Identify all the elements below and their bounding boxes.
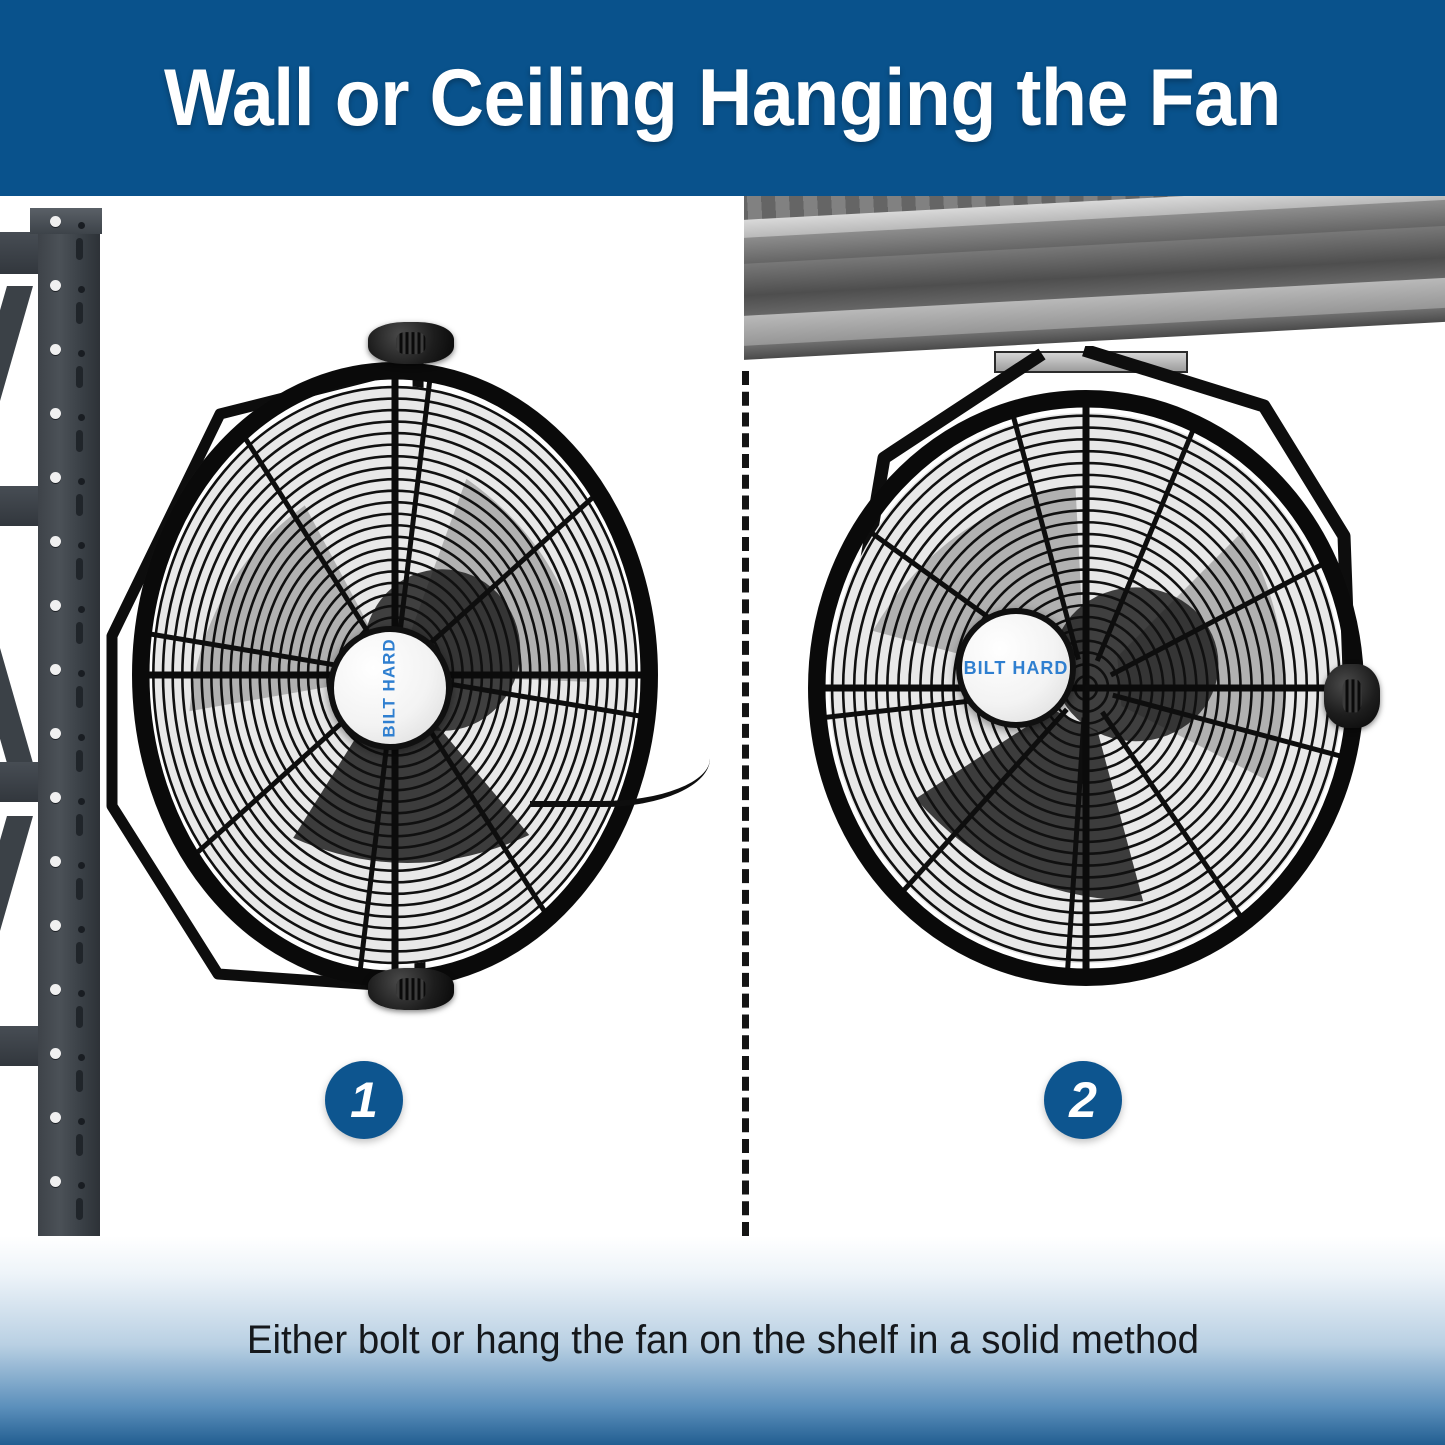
rack-brace xyxy=(0,286,33,502)
image-stage: BILT HARD 1 xyxy=(0,196,1445,1236)
rack-slot xyxy=(76,1134,83,1156)
rack-slot xyxy=(76,302,83,324)
panel-left: BILT HARD 1 xyxy=(0,196,744,1236)
tilt-adjustment-knob[interactable] xyxy=(1324,664,1380,728)
rack-hole xyxy=(50,1048,61,1059)
rack-hole xyxy=(50,856,61,867)
rack-dot xyxy=(78,542,85,549)
rack-slot xyxy=(76,622,83,644)
rack-upright-post xyxy=(38,208,100,1236)
rack-dot xyxy=(78,606,85,613)
rack-hole xyxy=(50,216,61,227)
step-badge-1: 1 xyxy=(325,1061,403,1139)
brand-label: BILT HARD xyxy=(380,638,400,737)
rack-dot xyxy=(78,734,85,741)
power-cord xyxy=(530,726,710,807)
rack-slot xyxy=(76,1198,83,1220)
rack-hole xyxy=(50,1112,61,1123)
shelving-rack xyxy=(0,196,112,1236)
rack-dot xyxy=(78,670,85,677)
rack-slot xyxy=(76,494,83,516)
fan-guard-wires xyxy=(806,388,1366,988)
rack-dot xyxy=(78,1054,85,1061)
page-title: Wall or Ceiling Hanging the Fan xyxy=(164,52,1281,145)
rack-dot xyxy=(78,1118,85,1125)
rack-hole xyxy=(50,344,61,355)
rack-hole xyxy=(50,280,61,291)
panel-divider xyxy=(742,371,749,1236)
rack-hole xyxy=(50,664,61,675)
ceiling-hanging-fan: BILT HARD xyxy=(784,346,1409,1006)
infographic-page: Wall or Ceiling Hanging the Fan xyxy=(0,0,1445,1445)
top-adjustment-knob[interactable] xyxy=(368,322,454,364)
fan-guard xyxy=(806,388,1366,988)
rack-dot xyxy=(78,478,85,485)
bottom-adjustment-knob[interactable] xyxy=(368,968,454,1010)
panel-right: BILT HARD 2 xyxy=(744,196,1445,1236)
rack-dot xyxy=(78,862,85,869)
rack-hole xyxy=(50,536,61,547)
step-badge-2: 2 xyxy=(1044,1061,1122,1139)
fan-hub: BILT HARD xyxy=(328,626,452,750)
rack-dot xyxy=(78,1182,85,1189)
rack-dot xyxy=(78,414,85,421)
rack-dot xyxy=(78,798,85,805)
rack-slot xyxy=(76,1006,83,1028)
rack-hole xyxy=(50,600,61,611)
rack-hole xyxy=(50,472,61,483)
rack-slot xyxy=(76,558,83,580)
rack-dot xyxy=(78,286,85,293)
rack-brace xyxy=(0,816,33,1032)
rack-slot xyxy=(76,366,83,388)
rack-post-cap xyxy=(30,208,102,234)
rack-hole xyxy=(50,728,61,739)
step-number: 2 xyxy=(1069,1075,1097,1125)
rack-brace xyxy=(0,544,34,766)
footer-caption-bar: Either bolt or hang the fan on the shelf… xyxy=(0,1236,1445,1445)
rack-slot xyxy=(76,814,83,836)
rack-slot xyxy=(76,750,83,772)
rack-slot xyxy=(76,430,83,452)
wall-mounted-fan: BILT HARD xyxy=(100,336,680,1016)
rack-dot xyxy=(78,926,85,933)
rack-dot xyxy=(78,222,85,229)
fan-hub: BILT HARD xyxy=(956,608,1076,728)
rack-slot xyxy=(76,878,83,900)
rack-perforations xyxy=(50,210,66,1234)
header-banner: Wall or Ceiling Hanging the Fan xyxy=(0,0,1445,196)
rack-slot xyxy=(76,238,83,260)
footer-caption: Either bolt or hang the fan on the shelf… xyxy=(246,1318,1198,1363)
rack-slot xyxy=(76,686,83,708)
rack-hole xyxy=(50,984,61,995)
rack-hole xyxy=(50,1176,61,1187)
rack-hole xyxy=(50,920,61,931)
rack-dot xyxy=(78,990,85,997)
rack-hole xyxy=(50,792,61,803)
rack-slot xyxy=(76,942,83,964)
rack-dot xyxy=(78,350,85,357)
step-number: 1 xyxy=(350,1075,378,1125)
rack-slot xyxy=(76,1070,83,1092)
brand-label: BILT HARD xyxy=(964,658,1069,679)
rack-hole xyxy=(50,408,61,419)
